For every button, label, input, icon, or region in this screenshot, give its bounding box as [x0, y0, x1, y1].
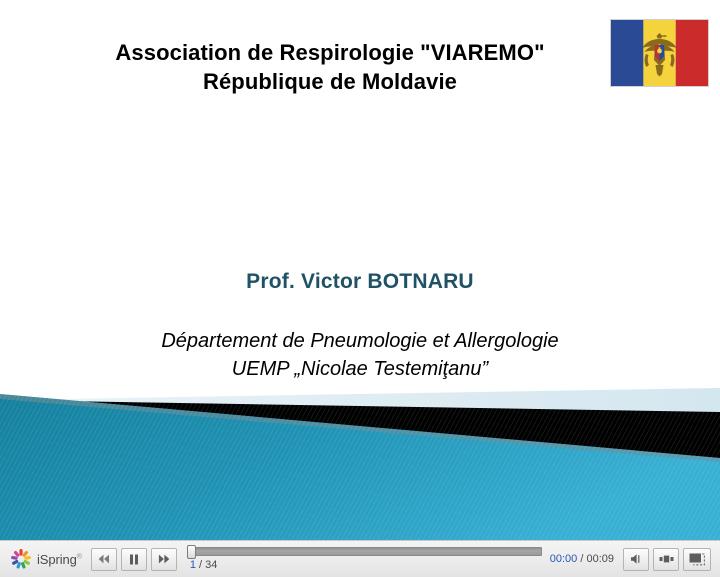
seek-track[interactable]: [187, 547, 542, 556]
slide-canvas[interactable]: Association de Respirologie "VIAREMO" Ré…: [0, 0, 720, 540]
ispring-registered-mark: ®: [77, 553, 82, 560]
rewind-icon: [98, 554, 110, 564]
player-right-controls: [623, 548, 715, 571]
previous-slide-button[interactable]: [91, 548, 117, 571]
fast-forward-icon: [158, 554, 170, 564]
fullscreen-icon: [689, 553, 705, 566]
time-current: 00:00: [550, 553, 578, 565]
ispring-logo: iSpring®: [9, 547, 82, 571]
moldova-flag-icon: [611, 20, 708, 86]
slide-counter-separator: /: [196, 559, 205, 571]
slide-counter: 1 / 34: [190, 559, 218, 571]
slide-counter-total: 34: [205, 559, 217, 571]
affiliation-line-2: UEMP „Nicolae Testemiţanu”: [40, 356, 680, 384]
ispring-presentation-player: Association de Respirologie "VIAREMO" Ré…: [0, 0, 720, 577]
affiliation-line-1: Département de Pneumologie et Allergolog…: [40, 328, 680, 356]
time-total: 00:09: [586, 553, 614, 565]
affiliation: Département de Pneumologie et Allergolog…: [40, 328, 680, 383]
ispring-wordmark: iSpring®: [37, 552, 82, 567]
seek-area[interactable]: 1 / 34: [187, 545, 542, 573]
ispring-pinwheel-icon: [9, 547, 33, 571]
time-readout: 00:00 / 00:09: [550, 553, 614, 565]
volume-button[interactable]: [623, 548, 649, 571]
page-title-line-2: République de Moldavie: [60, 67, 600, 96]
ispring-brand-text: iSpring: [37, 552, 77, 567]
page-title-line-1: Association de Respirologie "VIAREMO": [60, 38, 600, 67]
pause-button[interactable]: [121, 548, 147, 571]
seek-handle[interactable]: [187, 545, 196, 559]
player-toolbar: iSpring® 1 / 34: [0, 540, 720, 577]
pause-icon: [129, 554, 139, 565]
presenter-name: Prof. Victor BOTNARU: [60, 270, 660, 294]
layout-button[interactable]: [653, 548, 679, 571]
layout-icon: [659, 555, 674, 563]
page-title: Association de Respirologie "VIAREMO" Ré…: [60, 38, 600, 97]
next-slide-button[interactable]: [151, 548, 177, 571]
fullscreen-button[interactable]: [683, 548, 711, 571]
speaker-icon: [630, 553, 643, 565]
